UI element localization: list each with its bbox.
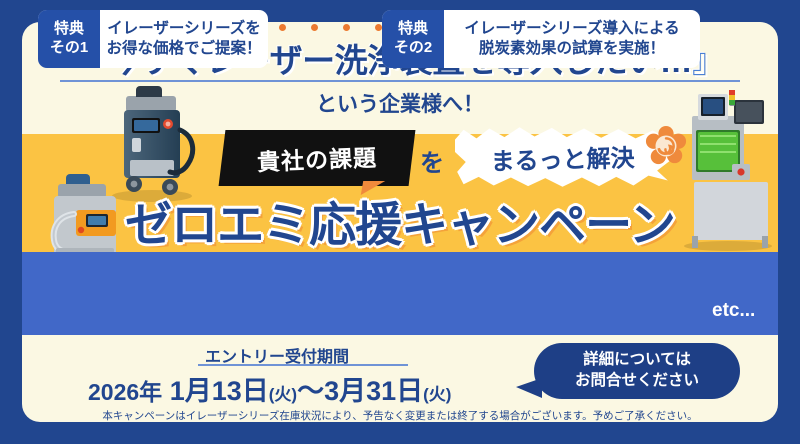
decoration-dot xyxy=(311,24,318,31)
connector-particle: を xyxy=(420,143,444,178)
campaign-banner: 『今すぐレーザー洗浄装置を導入したい…』 という企業様へ！ xyxy=(0,0,800,444)
date-start: 1月13日 xyxy=(170,376,269,406)
etc-label: etc... xyxy=(712,300,755,322)
benefit-badge-2: 特典 その2 xyxy=(382,10,444,68)
challenge-tag-label: 貴社の課題 xyxy=(221,126,413,189)
benefit-text-2-line2: 脱炭素効果の試算を実施！ xyxy=(479,39,665,59)
benefit-text-1-line1: イレーザーシリーズを xyxy=(107,19,261,39)
benefit-badge-1: 特典 その1 xyxy=(38,10,100,68)
decoration-dot xyxy=(375,24,382,31)
date-end: 3月31日 xyxy=(324,376,423,406)
flower-spiral-icon xyxy=(645,125,687,167)
benefit-badge-2-top: 特典 xyxy=(398,20,428,39)
contact-bubble[interactable]: 詳細については お問合せください xyxy=(534,343,740,399)
date-start-dow: (火) xyxy=(269,385,297,404)
benefit-text-1-line2: お得な価格でご提案！ xyxy=(106,39,261,59)
date-end-dow: (火) xyxy=(423,385,451,404)
solution-burst-label: まるっと解決 xyxy=(454,123,671,191)
benefit-card-2: 特典 その2 イレーザーシリーズ導入による 脱炭素効果の試算を実施！ xyxy=(382,10,700,68)
benefit-badge-1-bottom: その1 xyxy=(50,39,88,58)
benefit-text-2-line1: イレーザーシリーズ導入による xyxy=(464,19,679,39)
entry-period-divider xyxy=(198,364,408,366)
benefits-band xyxy=(22,257,778,335)
benefit-text-1: イレーザーシリーズを お得な価格でご提案！ xyxy=(100,10,268,68)
decoration-dot xyxy=(279,24,286,31)
contact-bubble-line2: お問合せください xyxy=(575,371,699,392)
date-separator: 〜 xyxy=(297,376,324,406)
campaign-title: ゼロエミ応援キャンペーン xyxy=(0,186,800,255)
entry-period-dates: 2026年 1月13日(火)〜3月31日(火) xyxy=(88,369,451,408)
decoration-dot xyxy=(343,24,350,31)
contact-bubble-line1: 詳細については xyxy=(583,350,691,371)
benefit-badge-2-bottom: その2 xyxy=(394,39,432,58)
benefit-text-2: イレーザーシリーズ導入による 脱炭素効果の試算を実施！ xyxy=(444,10,700,68)
disclaimer-text: 本キャンペーンはイレーザーシリーズ在庫状況により、予告なく変更または終了する場合… xyxy=(0,408,800,423)
benefit-card-1: 特典 その1 イレーザーシリーズを お得な価格でご提案！ xyxy=(38,10,268,68)
benefit-badge-1-top: 特典 xyxy=(54,20,84,39)
date-year: 2026年 xyxy=(88,379,162,405)
